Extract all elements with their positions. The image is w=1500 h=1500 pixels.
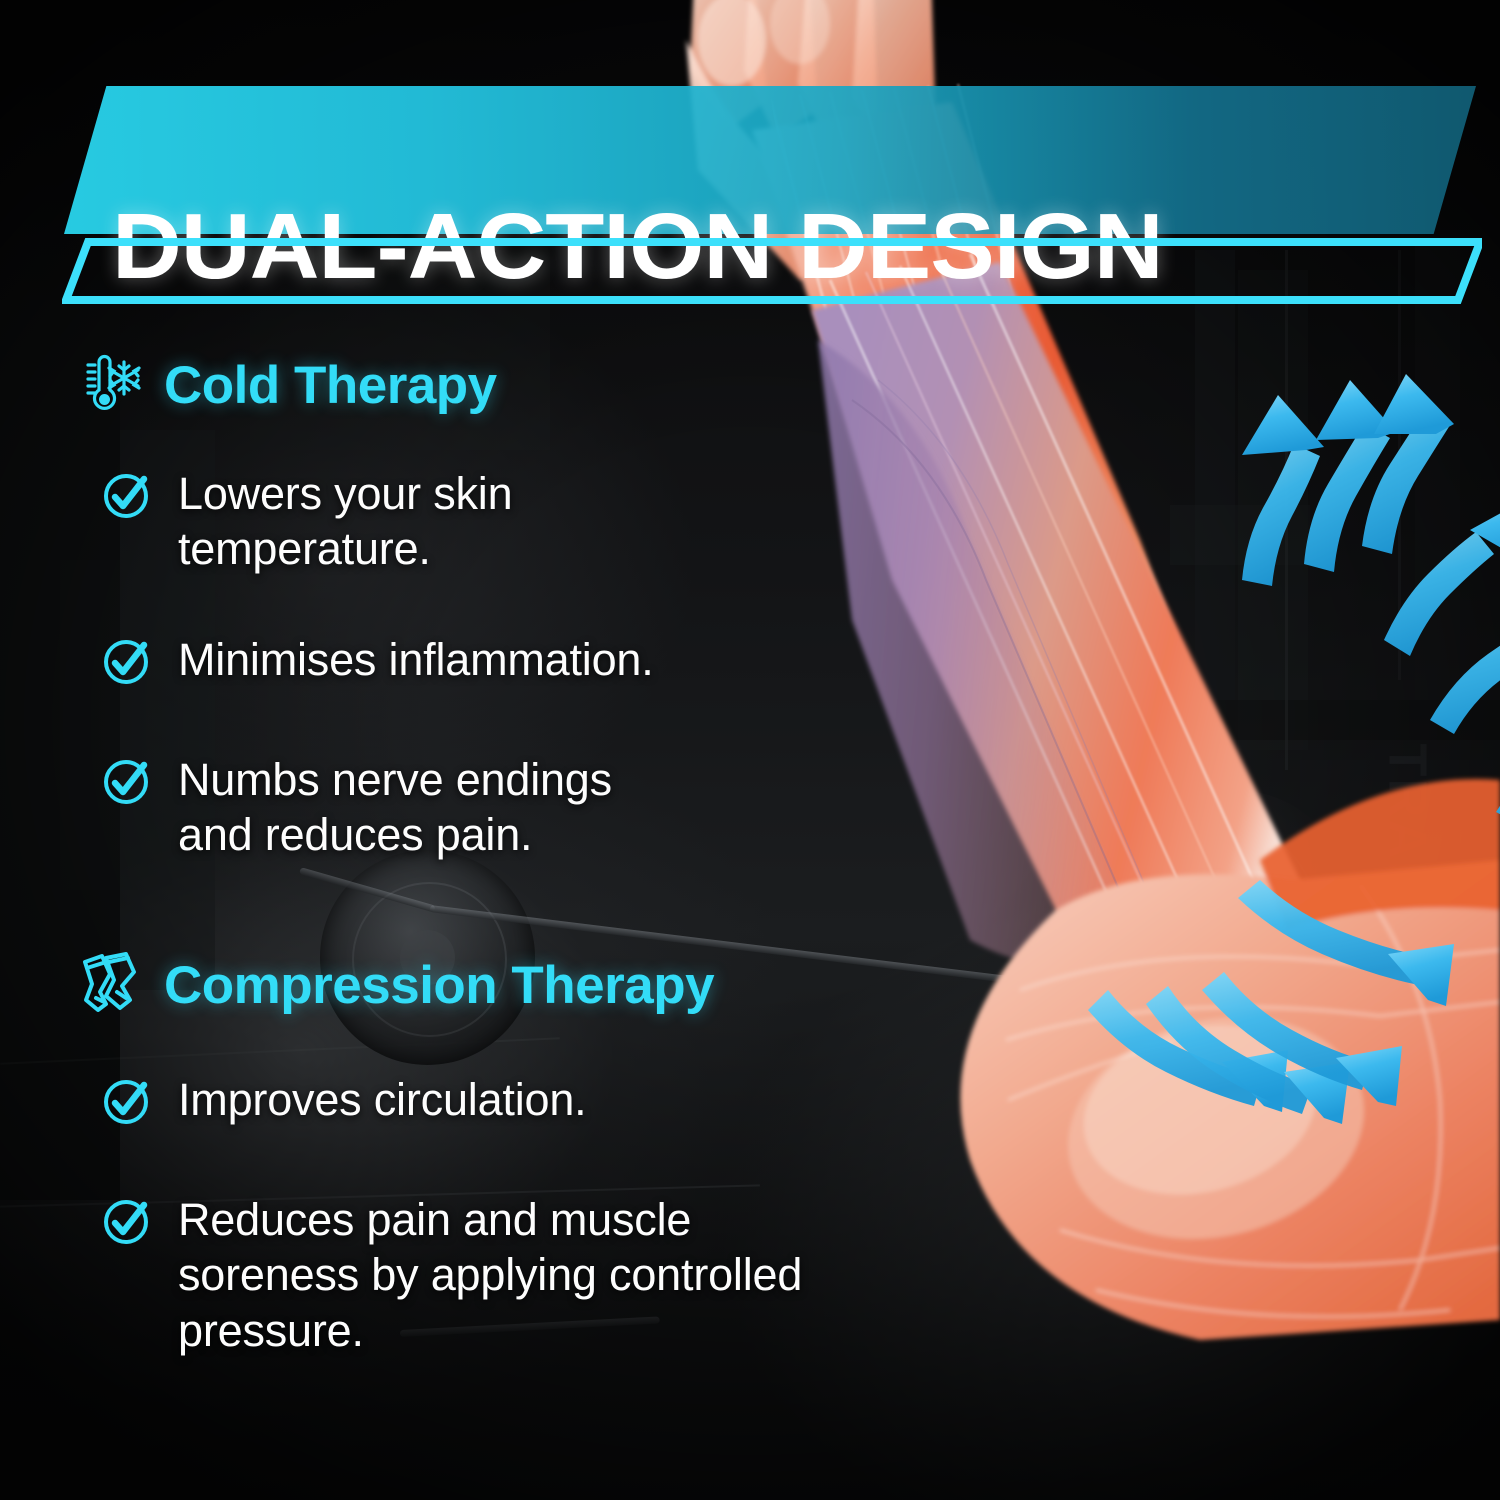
bullet-text: Improves circulation. bbox=[178, 1072, 586, 1127]
section-title: Compression Therapy bbox=[164, 959, 714, 1012]
check-circle-icon bbox=[100, 756, 152, 808]
check-circle-icon bbox=[100, 1076, 152, 1128]
check-circle-icon bbox=[100, 470, 152, 522]
bullet-item: Reduces pain and muscle soreness by appl… bbox=[100, 1192, 802, 1358]
compression-sock-icon bbox=[76, 952, 142, 1018]
section-title: Cold Therapy bbox=[164, 359, 497, 412]
feature-list: Cold Therapy Lowers your skin temperatur… bbox=[0, 0, 980, 1500]
section-header-compression-therapy: Compression Therapy bbox=[76, 952, 714, 1018]
bullet-text: Numbs nerve endings and reduces pain. bbox=[178, 752, 612, 863]
infographic-canvas: TRAIN bbox=[0, 0, 1500, 1500]
bullet-text: Minimises inflammation. bbox=[178, 632, 654, 687]
arrow bbox=[1384, 498, 1500, 656]
check-circle-icon bbox=[100, 1196, 152, 1248]
bullet-item: Lowers your skin temperature. bbox=[100, 466, 512, 577]
bullet-item: Minimises inflammation. bbox=[100, 632, 654, 688]
section-header-cold-therapy: Cold Therapy bbox=[76, 352, 497, 418]
arrow bbox=[1362, 374, 1454, 554]
thermometer-snowflake-icon bbox=[76, 352, 142, 418]
bullet-item: Improves circulation. bbox=[100, 1072, 586, 1128]
bullet-item: Numbs nerve endings and reduces pain. bbox=[100, 752, 612, 863]
bullet-text: Lowers your skin temperature. bbox=[178, 466, 512, 577]
bullet-text: Reduces pain and muscle soreness by appl… bbox=[178, 1192, 802, 1358]
check-circle-icon bbox=[100, 636, 152, 688]
